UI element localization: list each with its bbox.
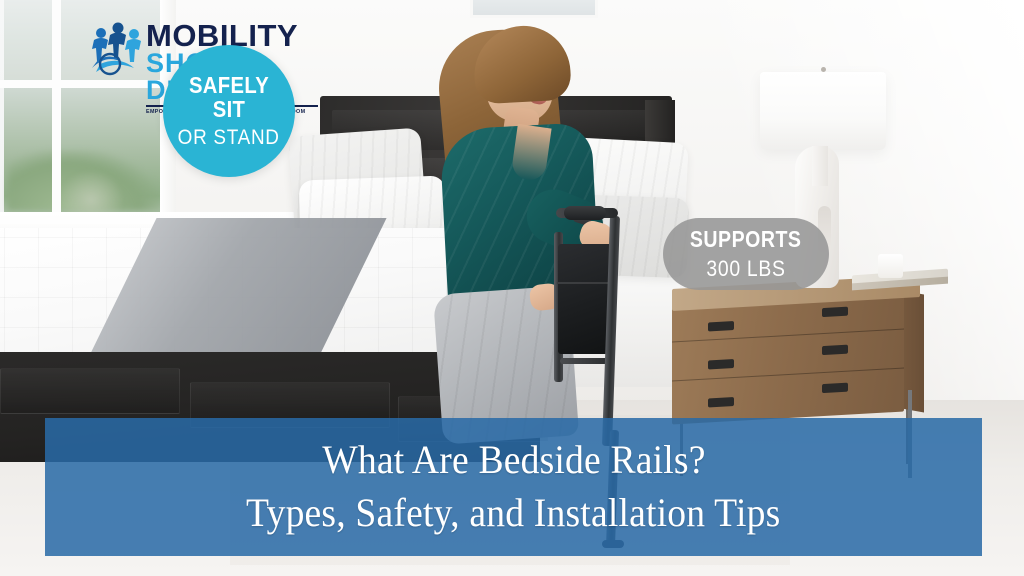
hero-image: MOBILITY SHOP DIRECT EMPOWERING MOBILITY… (0, 0, 1024, 576)
title-banner: What Are Bedside Rails? Types, Safety, a… (45, 418, 982, 556)
lamp-shade (760, 72, 886, 150)
lamp-neck (812, 146, 828, 186)
bed-storage-drawer (0, 368, 180, 414)
badge-line-2: 300 LBS (706, 258, 785, 280)
badge-line-1: SAFELY SIT (171, 73, 287, 121)
drawer-handle (708, 397, 734, 407)
badge-line-1: SUPPORTS (690, 228, 802, 251)
dresser (672, 290, 904, 425)
title-line-2: Types, Safety, and Installation Tips (246, 487, 780, 540)
drawer-handle (822, 383, 848, 393)
mug (878, 254, 903, 278)
rail-grip (564, 206, 606, 220)
drawer-seam (672, 329, 904, 343)
mobility-figures-wheelchair-icon (88, 20, 144, 82)
title-line-1: What Are Bedside Rails? (322, 434, 705, 487)
badge-line-2: OR STAND (178, 127, 280, 149)
drawer-seam (672, 368, 904, 382)
drawer-handle (708, 359, 734, 369)
drawer-handle (822, 345, 848, 355)
weight-capacity-badge: SUPPORTS 300 LBS (663, 218, 829, 290)
drawer-handle (708, 321, 734, 331)
safely-sit-badge: SAFELY SIT OR STAND (163, 45, 295, 177)
pouch-seam (558, 282, 614, 284)
lamp-finial (821, 67, 826, 72)
drawer-handle (822, 307, 848, 317)
